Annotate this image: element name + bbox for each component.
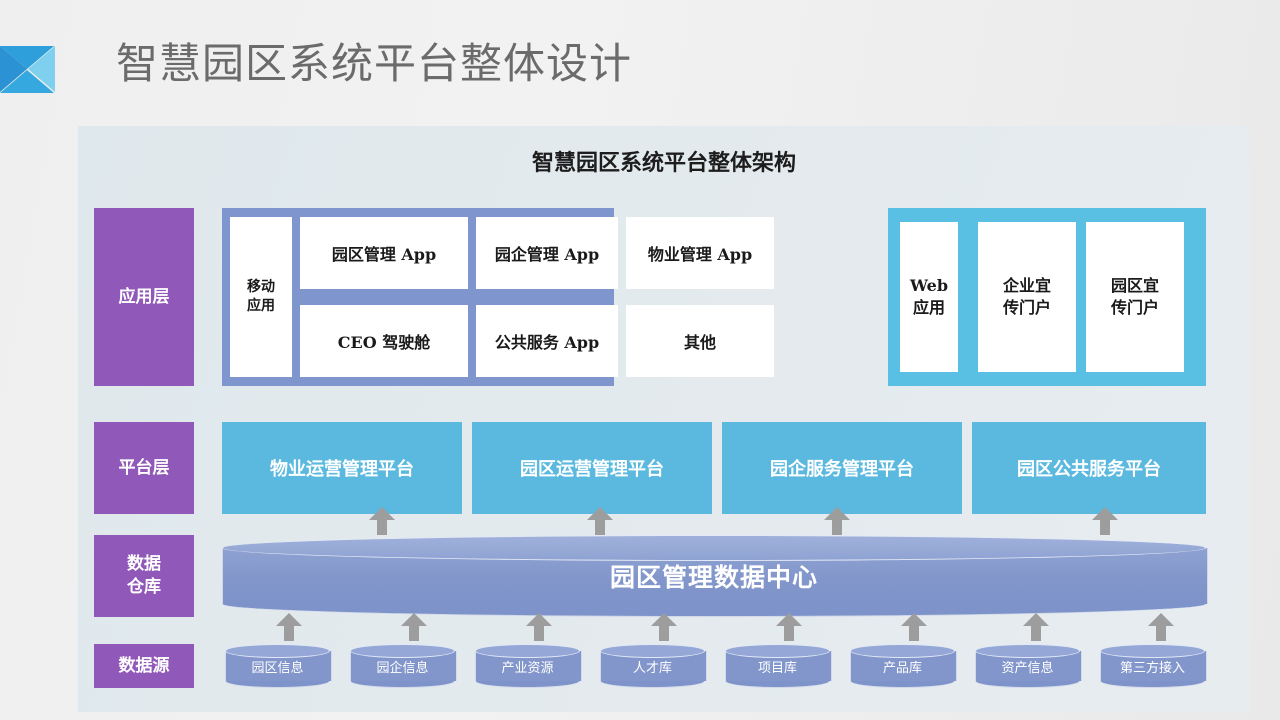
datasource-product-pool-label: 产品库 <box>850 644 955 688</box>
arrow-up-icon <box>651 613 677 641</box>
mobile-category-line2: 应用 <box>247 297 275 316</box>
page-header: 智慧园区系统平台整体设计 <box>0 0 1280 126</box>
data-center-cylinder: 园区管理数据中心 <box>222 535 1206 617</box>
layer-label-application-text: 应用层 <box>119 286 170 309</box>
datasource-product-pool[interactable]: 产品库 <box>850 644 955 688</box>
datasource-asset-info[interactable]: 资产信息 <box>975 644 1080 688</box>
arrow-up-icon <box>276 613 302 641</box>
app-tile-ceo-cockpit[interactable]: CEO 驾驶舱 <box>300 305 468 377</box>
platform-tile-enterprise-service[interactable]: 园企服务管理平台 <box>722 422 962 514</box>
mobile-category-line1: 移动 <box>247 278 275 297</box>
datasource-asset-info-label: 资产信息 <box>975 644 1080 688</box>
layer-label-warehouse-line2: 仓库 <box>127 576 161 599</box>
web-tile-enterprise-portal-line1: 企业宜 <box>1003 275 1051 297</box>
datasource-enterprise-info-label: 园企信息 <box>350 644 455 688</box>
app-tile-park-management[interactable]: 园区管理 App <box>300 217 468 289</box>
datasource-project-pool-label: 项目库 <box>725 644 830 688</box>
mobile-application-group: 移动 应用 园区管理 App 园企管理 App 物业管理 App CEO 驾驶舱… <box>222 208 614 386</box>
diamond-bowtie-logo-icon <box>0 46 55 93</box>
platform-tile-public-service[interactable]: 园区公共服务平台 <box>972 422 1206 514</box>
arrow-up-icon <box>526 613 552 641</box>
architecture-title: 智慧园区系统平台整体架构 <box>78 145 1250 177</box>
web-category-line1: Web <box>910 275 948 297</box>
datasource-third-party-access[interactable]: 第三方接入 <box>1100 644 1205 688</box>
arrow-up-icon <box>1023 613 1049 641</box>
arrow-up-icon <box>901 613 927 641</box>
mobile-application-category: 移动 应用 <box>230 217 292 377</box>
web-category-line2: 应用 <box>910 297 948 319</box>
layer-label-application: 应用层 <box>94 208 194 386</box>
platform-tile-property-operation[interactable]: 物业运营管理平台 <box>222 422 462 514</box>
app-tile-public-service[interactable]: 公共服务 App <box>476 305 618 377</box>
arrow-up-icon <box>1092 507 1118 535</box>
arrow-up-icon <box>587 507 613 535</box>
datasource-third-party-access-label: 第三方接入 <box>1100 644 1205 688</box>
architecture-panel: 智慧园区系统平台整体架构 应用层 平台层 数据 仓库 数据源 移动 应用 园区管… <box>78 126 1250 712</box>
app-tile-other[interactable]: 其他 <box>626 305 774 377</box>
datasource-industry-resource-label: 产业资源 <box>475 644 580 688</box>
web-tile-park-portal[interactable]: 园区宜 传门户 <box>1086 222 1184 372</box>
web-application-group: Web 应用 企业宜 传门户 园区宜 传门户 <box>888 208 1206 386</box>
app-tile-property-management[interactable]: 物业管理 App <box>626 217 774 289</box>
platform-tile-park-operation[interactable]: 园区运营管理平台 <box>472 422 712 514</box>
layer-label-datasource: 数据源 <box>94 644 194 688</box>
web-application-category: Web 应用 <box>900 222 958 372</box>
arrow-up-icon <box>369 507 395 535</box>
arrow-up-icon <box>824 507 850 535</box>
layer-label-datasource-text: 数据源 <box>119 655 170 678</box>
layer-label-warehouse-line1: 数据 <box>127 553 161 576</box>
datasource-talent-pool-label: 人才库 <box>600 644 705 688</box>
web-tile-enterprise-portal[interactable]: 企业宜 传门户 <box>978 222 1076 372</box>
arrow-up-icon <box>776 613 802 641</box>
data-center-label: 园区管理数据中心 <box>222 535 1206 617</box>
layer-label-warehouse: 数据 仓库 <box>94 535 194 617</box>
datasource-talent-pool[interactable]: 人才库 <box>600 644 705 688</box>
app-tile-enterprise-management[interactable]: 园企管理 App <box>476 217 618 289</box>
datasource-enterprise-info[interactable]: 园企信息 <box>350 644 455 688</box>
web-tile-enterprise-portal-line2: 传门户 <box>1003 297 1051 319</box>
web-tile-park-portal-line1: 园区宜 <box>1111 275 1159 297</box>
datasource-project-pool[interactable]: 项目库 <box>725 644 830 688</box>
layer-label-platform-text: 平台层 <box>119 457 170 480</box>
datasource-park-info-label: 园区信息 <box>225 644 330 688</box>
datasource-industry-resource[interactable]: 产业资源 <box>475 644 580 688</box>
arrow-up-icon <box>1148 613 1174 641</box>
web-tile-park-portal-line2: 传门户 <box>1111 297 1159 319</box>
arrow-up-icon <box>401 613 427 641</box>
page-title: 智慧园区系统平台整体设计 <box>116 30 632 91</box>
datasource-park-info[interactable]: 园区信息 <box>225 644 330 688</box>
layer-label-platform: 平台层 <box>94 422 194 514</box>
